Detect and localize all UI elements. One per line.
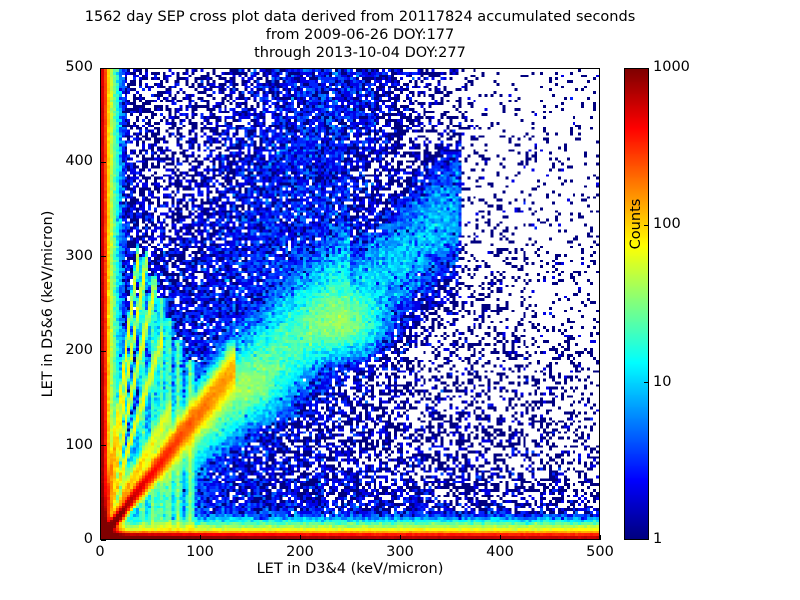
y-tick-mark	[101, 162, 106, 163]
colorbar-title: Counts	[628, 144, 644, 304]
x-tick-mark	[500, 535, 501, 540]
x-tick-label: 100	[170, 544, 230, 560]
x-tick-label: 500	[570, 544, 630, 560]
colorbar-gradient	[625, 69, 648, 539]
y-tick-label: 0	[43, 531, 93, 547]
scatter-density-plot-area	[100, 68, 600, 540]
x-tick-mark	[300, 535, 301, 540]
y-tick-mark	[101, 351, 106, 352]
colorbar-tick-mark	[644, 382, 649, 383]
y-tick-label: 500	[43, 59, 93, 75]
y-tick-mark	[101, 68, 106, 69]
figure-root: 1562 day SEP cross plot data derived fro…	[0, 0, 800, 600]
x-tick-mark	[200, 535, 201, 540]
density-canvas	[101, 69, 599, 539]
figure-title-line-3: through 2013-10-04 DOY:277	[0, 44, 720, 62]
figure-title-line-1: 1562 day SEP cross plot data derived fro…	[0, 8, 720, 26]
colorbar-tick-label: 1	[653, 531, 662, 547]
colorbar-tick-label: 1000	[653, 59, 690, 75]
figure-title-line-2: from 2009-06-26 DOY:177	[0, 26, 720, 44]
y-tick-mark	[101, 540, 106, 541]
x-tick-label: 200	[270, 544, 330, 560]
x-tick-label: 300	[370, 544, 430, 560]
y-tick-mark	[101, 256, 106, 257]
x-tick-label: 400	[470, 544, 530, 560]
colorbar-tick-label: 10	[653, 374, 671, 390]
x-tick-mark	[600, 535, 601, 540]
figure-title: 1562 day SEP cross plot data derived fro…	[0, 8, 720, 62]
x-tick-mark	[400, 535, 401, 540]
y-tick-mark	[101, 445, 106, 446]
colorbar-tick-label: 100	[653, 216, 681, 232]
colorbar	[624, 68, 649, 540]
colorbar-tick-mark	[644, 225, 649, 226]
y-axis-title: LET in D5&6 (keV/micron)	[40, 154, 56, 454]
x-axis-title: LET in D3&4 (keV/micron)	[100, 561, 600, 577]
